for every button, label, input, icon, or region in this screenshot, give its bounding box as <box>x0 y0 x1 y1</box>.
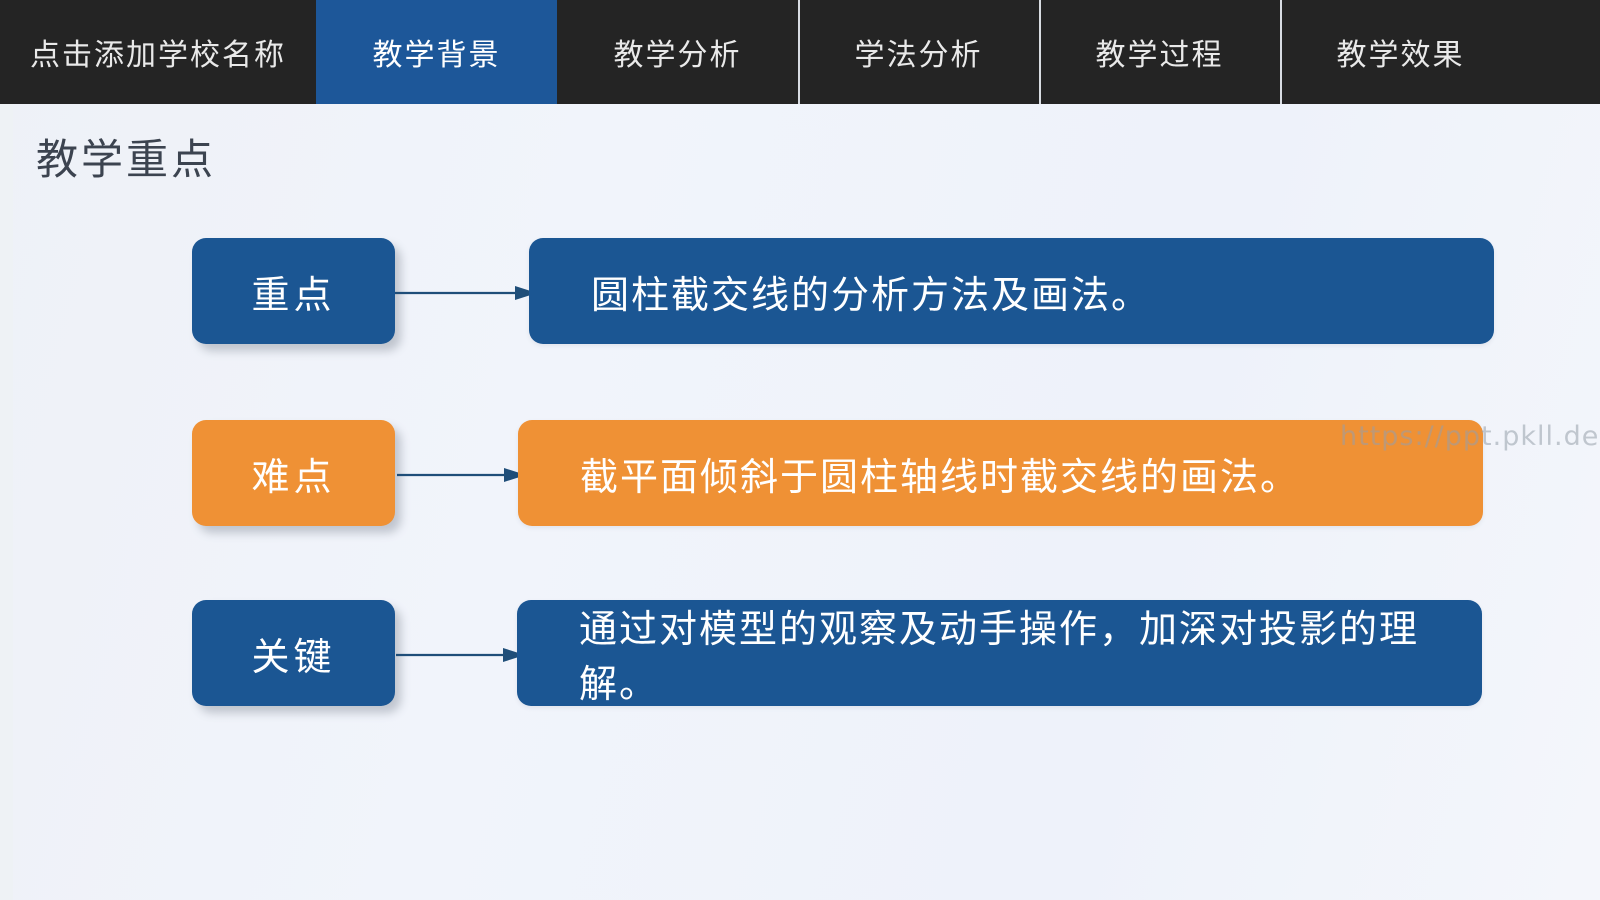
key-point-content-text: 截平面倾斜于圆柱轴线时截交线的画法。 <box>580 446 1300 501</box>
key-point-label-text: 重点 <box>251 264 335 319</box>
key-point-label-badge[interactable]: 关键 <box>192 600 395 706</box>
key-point-content-box[interactable]: 圆柱截交线的分析方法及画法。 <box>529 238 1494 344</box>
arrow-connector <box>396 648 525 660</box>
key-point-content-text: 圆柱截交线的分析方法及画法。 <box>591 264 1151 319</box>
key-point-content-box[interactable]: 截平面倾斜于圆柱轴线时截交线的画法。 <box>518 420 1483 526</box>
key-point-content-text: 通过对模型的观察及动手操作，加深对投影的理解。 <box>579 598 1482 708</box>
arrow-right-icon <box>396 648 525 662</box>
key-points-list: 重点 圆柱截交线的分析方法及画法。 难点 <box>0 0 1600 900</box>
key-point-row: 难点 截平面倾斜于圆柱轴线时截交线的画法。 <box>0 420 1600 530</box>
arrow-right-icon <box>395 286 537 300</box>
arrow-connector <box>395 286 537 298</box>
arrow-right-icon <box>397 468 526 482</box>
key-point-row: 重点 圆柱截交线的分析方法及画法。 <box>0 238 1600 348</box>
arrow-connector <box>397 468 526 480</box>
key-point-label-badge[interactable]: 难点 <box>192 420 395 526</box>
key-point-label-text: 关键 <box>251 626 335 681</box>
key-point-label-text: 难点 <box>251 446 335 501</box>
key-point-content-box[interactable]: 通过对模型的观察及动手操作，加深对投影的理解。 <box>517 600 1482 706</box>
slide-canvas: 点击添加学校名称 教学背景 教学分析 学法分析 教学过程 教学效果 教学重点 重… <box>0 0 1600 900</box>
key-point-label-badge[interactable]: 重点 <box>192 238 395 344</box>
key-point-row: 关键 通过对模型的观察及动手操作，加深对投影的理解。 <box>0 600 1600 710</box>
